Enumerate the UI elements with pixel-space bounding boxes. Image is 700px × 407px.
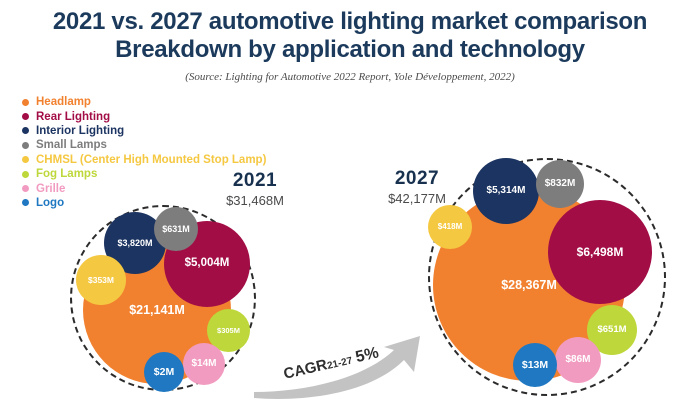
bubble-value-label: $2M [154,367,174,378]
bubble-small-2027[interactable]: $832M [536,160,584,208]
bubble-value-label: $6,498M [577,246,624,258]
legend-item-label: Rear Lighting [36,111,110,123]
cagr-annotation: CAGR21-27 5% [252,336,442,402]
bubble-value-label: $13M [522,360,548,371]
bubble-value-label: $14M [191,359,216,369]
bubble-interior-2027[interactable]: $5,314M [473,158,539,224]
year-label-2027: 2027 [352,168,482,190]
legend-color-swatch-icon [22,142,29,149]
bubble-chmsl-2021[interactable]: $353M [76,255,126,305]
cagr-value: 5% [354,344,380,366]
legend-color-swatch-icon [22,127,29,134]
legend-item-label: Logo [36,197,64,209]
legend-item-label: Grille [36,183,65,195]
legend-item-headlamp[interactable]: Headlamp [22,95,266,109]
title-block: 2021 vs. 2027 automotive lighting market… [0,8,700,83]
bubble-value-label: $5,314M [487,186,526,196]
bubble-grille-2027[interactable]: $86M [555,337,601,383]
legend-color-swatch-icon [22,113,29,120]
bubble-logo-2027[interactable]: $13M [513,343,557,387]
legend-color-swatch-icon [22,199,29,206]
legend-item-rear-lighting[interactable]: Rear Lighting [22,109,266,123]
bubble-grille-2021[interactable]: $14M [183,343,225,385]
page-title-line-1: 2021 vs. 2027 automotive lighting market… [0,8,700,36]
legend-color-swatch-icon [22,156,29,163]
bubble-logo-2021[interactable]: $2M [144,352,184,392]
bubble-value-label: $631M [162,225,190,234]
legend-item-label: Interior Lighting [36,125,124,137]
bubble-value-label: $86M [565,355,590,365]
legend-item-label: Small Lamps [36,139,107,151]
year-total-2021: $31,468M [190,193,320,208]
page-title-line-2: Breakdown by application and technology [0,36,700,64]
legend-item-interior-lighting[interactable]: Interior Lighting [22,124,266,138]
year-header-2021: 2021 $31,468M [190,170,320,208]
legend-item-chmsl-center-high-mounted-stop-lamp[interactable]: CHMSL (Center High Mounted Stop Lamp) [22,153,266,167]
bubble-value-label: $305M [217,327,240,335]
bubble-value-label: $651M [597,325,626,335]
bubble-value-label: $3,820M [117,239,152,248]
year-label-2021: 2021 [190,170,320,192]
source-citation: (Source: Lighting for Automotive 2022 Re… [0,71,700,83]
infographic-root: 2021 vs. 2027 automotive lighting market… [0,0,700,406]
legend-item-label: CHMSL (Center High Mounted Stop Lamp) [36,154,266,166]
bubble-value-label: $418M [438,223,462,231]
legend-item-label: Headlamp [36,96,91,108]
bubble-value-label: $28,367M [501,279,557,292]
bubble-small-2021[interactable]: $631M [154,207,198,251]
legend-color-swatch-icon [22,185,29,192]
bubble-chmsl-2027[interactable]: $418M [428,205,472,249]
bubble-value-label: $5,004M [185,258,230,270]
bubble-value-label: $21,141M [129,304,185,317]
bubble-rear-2027[interactable]: $6,498M [548,200,652,304]
bubble-value-label: $832M [545,179,576,189]
legend-item-label: Fog Lamps [36,168,97,180]
bubble-value-label: $353M [88,276,114,285]
legend-color-swatch-icon [22,171,29,178]
legend-color-swatch-icon [22,99,29,106]
legend-item-small-lamps[interactable]: Small Lamps [22,138,266,152]
